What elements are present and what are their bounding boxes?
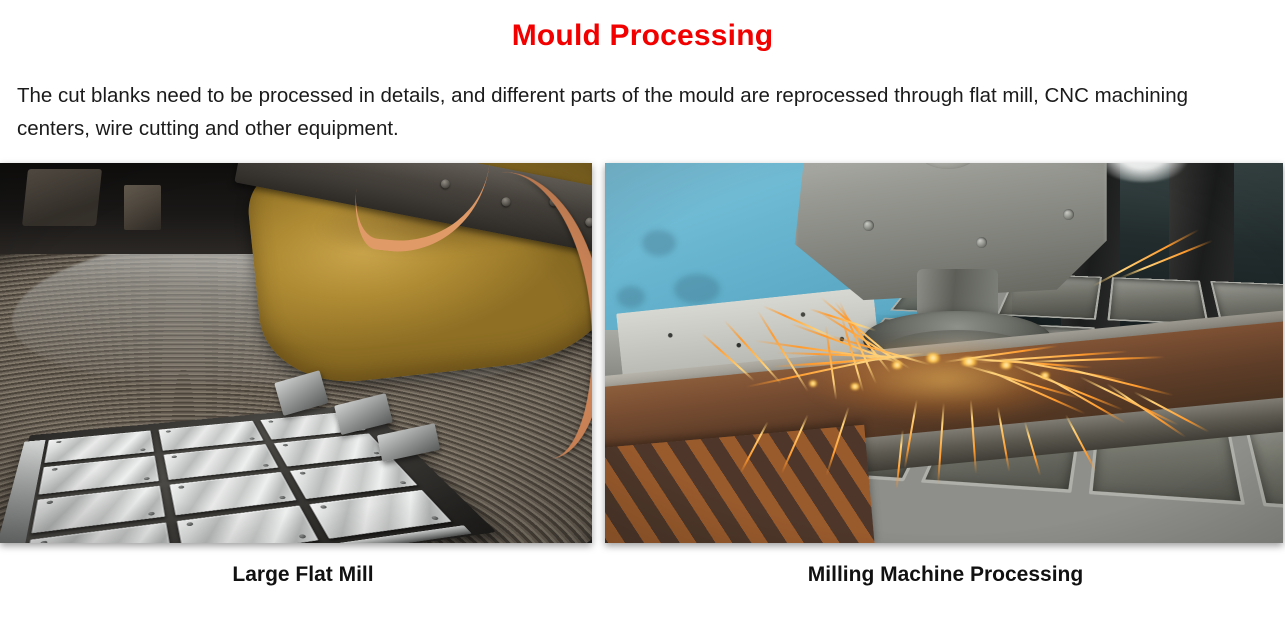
caption-milling-machine-processing: Milling Machine Processing (606, 560, 1285, 590)
page-title: Mould Processing (0, 18, 1285, 54)
figure-milling-machine (605, 163, 1283, 543)
photo-vignette (0, 163, 592, 543)
caption-row: Large Flat Mill Milling Machine Processi… (0, 560, 1285, 600)
image-gallery (0, 163, 1285, 545)
caption-large-flat-mill: Large Flat Mill (0, 560, 606, 590)
figure-large-flat-mill (0, 163, 592, 543)
photo-large-flat-mill[interactable] (0, 163, 592, 543)
mould-processing-section: Mould Processing The cut blanks need to … (0, 0, 1285, 619)
section-description: The cut blanks need to be processed in d… (17, 79, 1207, 145)
photo-vignette (605, 163, 1283, 543)
photo-milling-machine[interactable] (605, 163, 1283, 543)
